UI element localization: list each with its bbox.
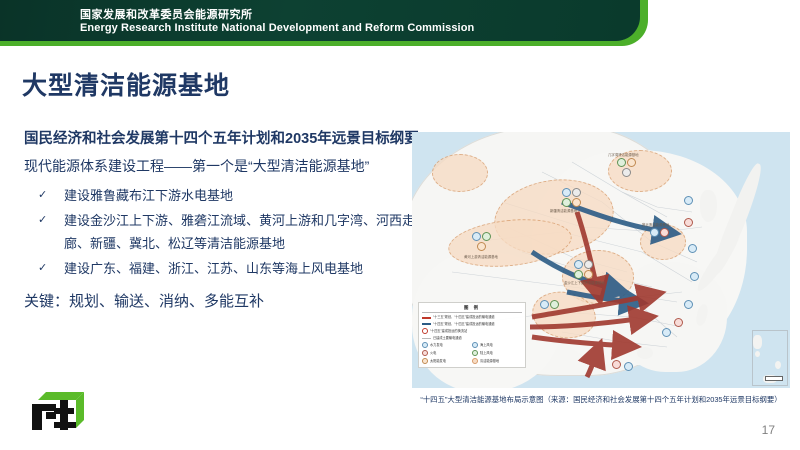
marker-solar [477, 242, 486, 251]
legend-title: 图 例 [422, 305, 522, 313]
legend-label: 陆上风电 [480, 351, 493, 356]
legend-item: “十三五”规划、“十四五”建成投运的输电通道 [422, 315, 522, 320]
map-image: 新疆清洁能源基地 黄河上游清洁能源基地 金沙江上下游清洁能源基地 几字湾清洁能源… [412, 132, 790, 388]
marker-offshore-wind [624, 362, 633, 371]
page-number: 17 [762, 423, 775, 437]
marker-converter-station [612, 360, 621, 369]
legend-label: “十四五”规划、“十四五”建成投运的输电通道 [433, 322, 495, 327]
marker-onshore-wind [482, 232, 491, 241]
base-label: 冀北清洁能源基地 [642, 222, 669, 227]
base-label: 几字湾清洁能源基地 [608, 152, 639, 157]
logo-mark [18, 390, 90, 436]
list-item-label-cont: 廊、新疆、冀北、松辽等清洁能源基地 [64, 232, 444, 255]
list-item: ✓ 建设金沙江上下游、雅砻江流域、黄河上游和几字湾、河西走 廊、新疆、冀北、松辽… [24, 209, 444, 255]
marker-offshore-wind [690, 272, 699, 281]
marker-solar [584, 270, 593, 279]
marker-hydro [650, 228, 659, 237]
legend-dot-swatch [422, 358, 428, 364]
slide-header: 国家发展和改革委员会能源研究所 Energy Research Institut… [0, 0, 648, 46]
legend-item: 火电 [422, 350, 468, 356]
inset-land [755, 351, 760, 357]
marker-hydro [472, 232, 481, 241]
list-item-label: 建设金沙江上下游、雅砻江流域、黄河上游和几字湾、河西走 [64, 213, 415, 228]
marker-converter-station [684, 218, 693, 227]
map-inset-south-china-sea [752, 330, 788, 386]
legend-item: “十四五”规划、“十四五”建成投运的输电通道 [422, 322, 522, 327]
legend-label: “十三五”规划、“十四五”建成投运的输电通道 [433, 315, 495, 320]
marker-offshore-wind [684, 300, 693, 309]
legend-item: 已建成土要输电通道 [422, 336, 522, 341]
base-label: 新疆清洁能源基地 [550, 208, 577, 213]
map-caption: “十四五”大型清洁能源基地布局示意图（来源：国民经济和社会发展第十四个五年计划和… [412, 394, 790, 405]
base-label: 黄河上游清洁能源基地 [464, 254, 498, 259]
page-title: 大型清洁能源基地 [22, 66, 230, 102]
marker-hydro [574, 260, 583, 269]
marker-hydro [562, 188, 571, 197]
org-name-en: Energy Research Institute National Devel… [80, 22, 474, 34]
legend-label: 已建成土要输电通道 [433, 336, 462, 341]
marker-onshore-wind [550, 300, 559, 309]
legend-dot-swatch [472, 350, 478, 356]
base-label: 金沙江上下游清洁能源基地 [564, 280, 605, 285]
legend-label: 水力发电 [430, 343, 443, 348]
legend-item: “十四五”建成投运的换流站 [422, 328, 522, 334]
marker-onshore-wind [574, 270, 583, 279]
map-scale-bar [765, 376, 783, 381]
legend-item: 陆上风电 [472, 350, 518, 356]
org-name-cn: 国家发展和改革委员会能源研究所 [80, 6, 253, 22]
map-legend: 图 例 “十三五”规划、“十四五”建成投运的输电通道 “十四五”规划、“十四五”… [418, 302, 526, 368]
legend-item: 水力发电 [422, 342, 468, 348]
marker-thermal [572, 188, 581, 197]
inset-land [775, 361, 781, 369]
marker-converter-station [660, 228, 669, 237]
list-item-label: 建设雅鲁藏布江下游水电基地 [64, 188, 233, 203]
list-item: ✓ 建设雅鲁藏布江下游水电基地 [24, 184, 444, 207]
content-subheading: 现代能源体系建设工程——第一个是“大型清洁能源基地” [24, 154, 444, 178]
marker-offshore-wind [688, 244, 697, 253]
legend-dot-swatch [472, 358, 478, 364]
legend-dot-swatch [422, 342, 428, 348]
marker-thermal [584, 260, 593, 269]
content-block: 国民经济和社会发展第十四个五年计划和2035年远景目标纲要 现代能源体系建设工程… [24, 128, 444, 311]
slide: 国家发展和改革委员会能源研究所 Energy Research Institut… [0, 0, 800, 450]
legend-label: 清洁能源基地 [480, 359, 499, 364]
legend-item: 海上风电 [472, 342, 518, 348]
marker-offshore-wind [662, 328, 671, 337]
marker-converter-station [674, 318, 683, 327]
marker-thermal [622, 168, 631, 177]
marker-offshore-wind [684, 196, 693, 205]
list-item: ✓ 建设广东、福建、浙江、江苏、山东等海上风电基地 [24, 257, 444, 280]
check-icon: ✓ [38, 184, 47, 207]
marker-onshore-wind [617, 158, 626, 167]
marker-solar [627, 158, 636, 167]
list-item-label: 建设广东、福建、浙江、江苏、山东等海上风电基地 [64, 261, 363, 276]
legend-label: 太阳能发电 [430, 359, 446, 364]
check-icon: ✓ [38, 209, 47, 232]
check-icon: ✓ [38, 257, 47, 280]
inset-land [753, 335, 762, 349]
legend-line-swatch [422, 323, 431, 325]
legend-item: 太阳能发电 [422, 358, 468, 364]
legend-label: 海上风电 [480, 343, 493, 348]
content-heading: 国民经济和社会发展第十四个五年计划和2035年远景目标纲要 [24, 128, 444, 150]
legend-line-swatch [422, 338, 431, 339]
key-points-line: 关键：规划、输送、消纳、多能互补 [24, 290, 444, 311]
legend-dot-swatch [472, 342, 478, 348]
marker-onshore-wind [562, 198, 571, 207]
legend-dot-swatch [422, 328, 428, 334]
legend-line-swatch [422, 317, 431, 319]
marker-hydro [540, 300, 549, 309]
legend-item: 清洁能源基地 [472, 358, 518, 364]
legend-label: 火电 [430, 351, 436, 356]
legend-label: “十四五”建成投运的换流站 [430, 329, 467, 334]
marker-solar [572, 198, 581, 207]
legend-point-grid: 水力发电 海上风电 火电 陆上风电 太阳能发电 [422, 342, 522, 365]
bullet-list: ✓ 建设雅鲁藏布江下游水电基地 ✓ 建设金沙江上下游、雅砻江流域、黄河上游和几字… [24, 184, 444, 280]
legend-dot-swatch [422, 350, 428, 356]
eri-logo [18, 390, 90, 436]
